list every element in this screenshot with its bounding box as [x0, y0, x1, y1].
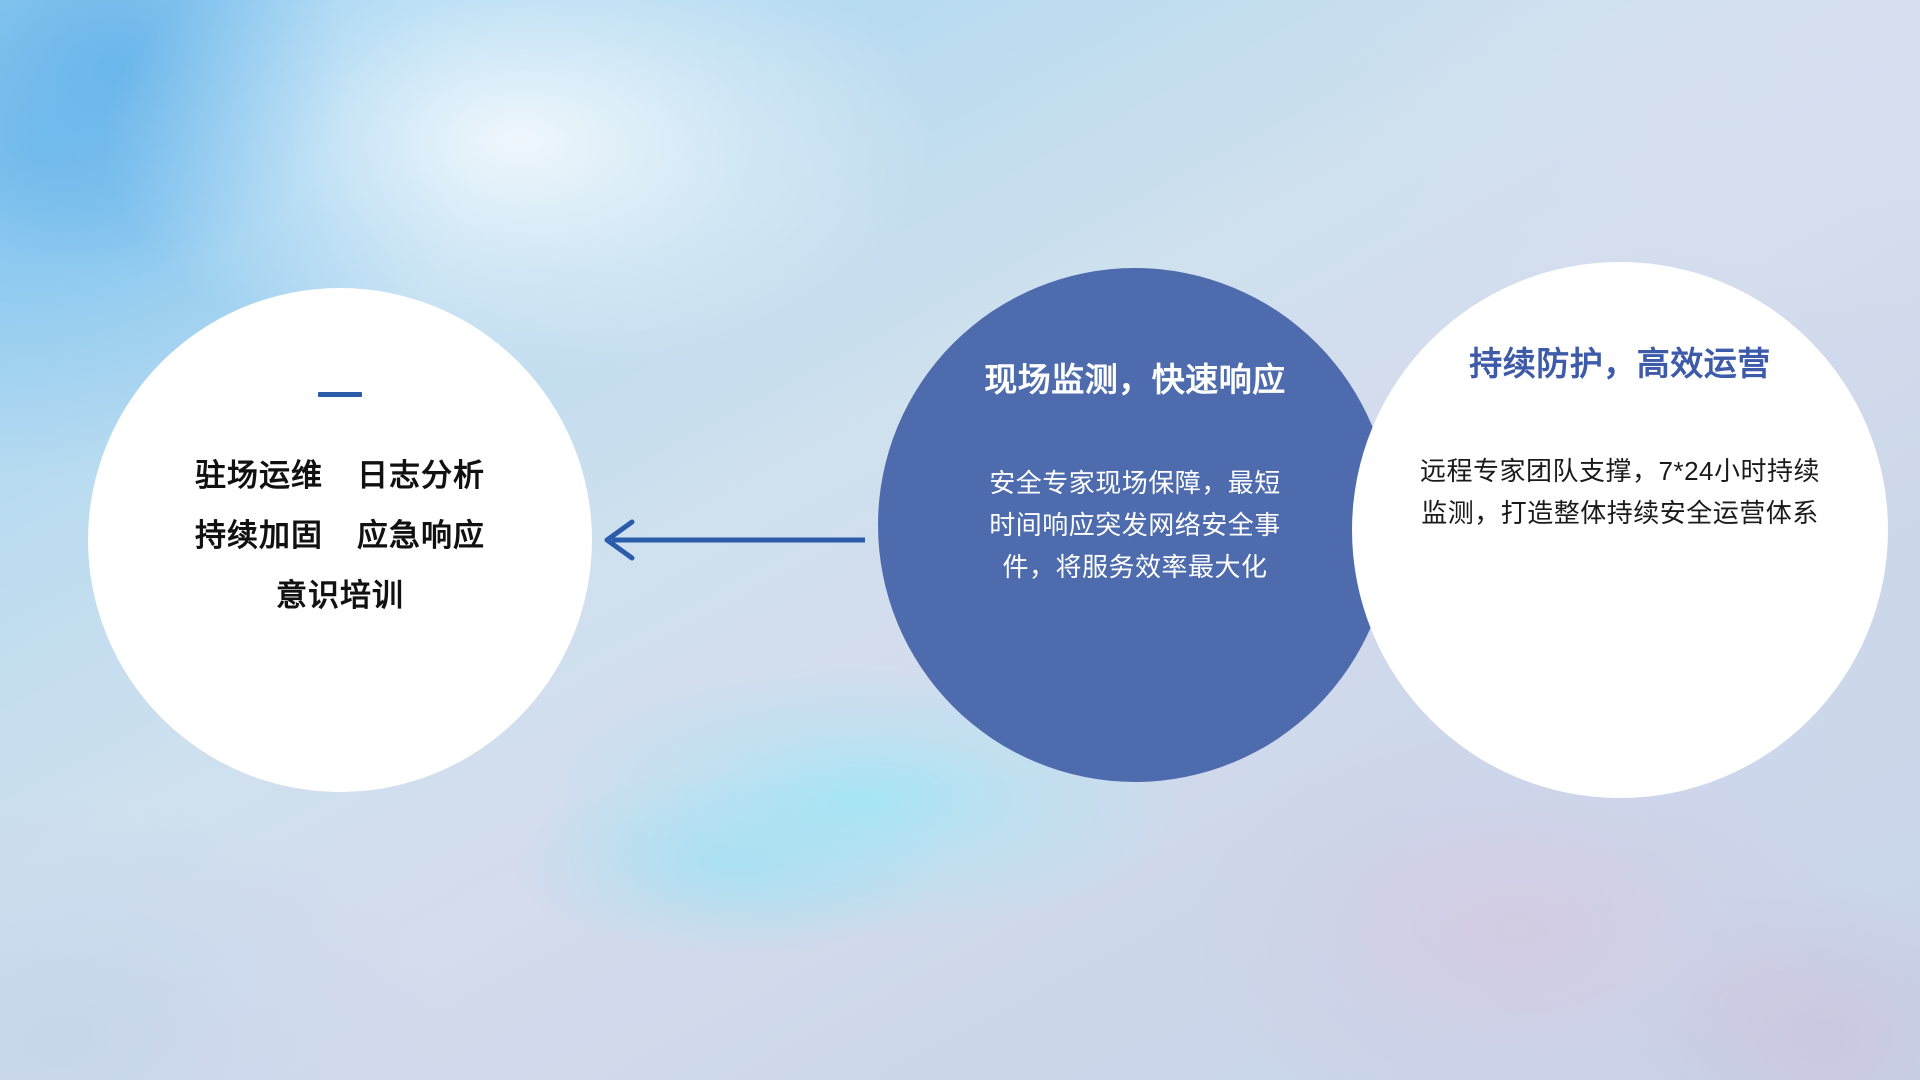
capability-tag: 日志分析	[357, 459, 485, 493]
continuous-protection-body: 远程专家团队支撑，7*24小时持续监测，打造整体持续安全运营体系	[1420, 450, 1820, 534]
capability-tag: 意识培训	[276, 579, 404, 613]
capability-tag: 应急响应	[357, 519, 485, 553]
onsite-monitoring-title: 现场监测，快速响应	[984, 360, 1286, 400]
slide-canvas: 驻场运维 日志分析 持续加固 应急响应 意识培训 现场监测，快速响应 安全专家现…	[0, 0, 1920, 1080]
capability-row: 驻场运维 日志分析	[195, 459, 485, 493]
continuous-protection-circle[interactable]: 持续防护，高效运营 远程专家团队支撑，7*24小时持续监测，打造整体持续安全运营…	[1352, 262, 1888, 798]
onsite-monitoring-body: 安全专家现场保障，最短时间响应突发网络安全事件，将服务效率最大化	[985, 462, 1285, 588]
capability-tag: 驻场运维	[195, 459, 323, 493]
onsite-monitoring-circle[interactable]: 现场监测，快速响应 安全专家现场保障，最短时间响应突发网络安全事件，将服务效率最…	[878, 268, 1392, 782]
capability-tag: 持续加固	[195, 519, 323, 553]
connector-arrow-left	[560, 500, 920, 580]
capability-tag-list: 驻场运维 日志分析 持续加固 应急响应 意识培训	[195, 459, 485, 613]
divider-dash-icon	[318, 392, 362, 397]
capabilities-content: 驻场运维 日志分析 持续加固 应急响应 意识培训	[88, 288, 592, 613]
onsite-monitoring-content: 现场监测，快速响应 安全专家现场保障，最短时间响应突发网络安全事件，将服务效率最…	[878, 268, 1392, 588]
continuous-protection-content: 持续防护，高效运营 远程专家团队支撑，7*24小时持续监测，打造整体持续安全运营…	[1352, 262, 1888, 534]
capability-row: 意识培训	[276, 579, 404, 613]
capability-row: 持续加固 应急响应	[195, 519, 485, 553]
continuous-protection-title: 持续防护，高效运营	[1469, 344, 1771, 384]
capabilities-circle[interactable]: 驻场运维 日志分析 持续加固 应急响应 意识培训	[88, 288, 592, 792]
